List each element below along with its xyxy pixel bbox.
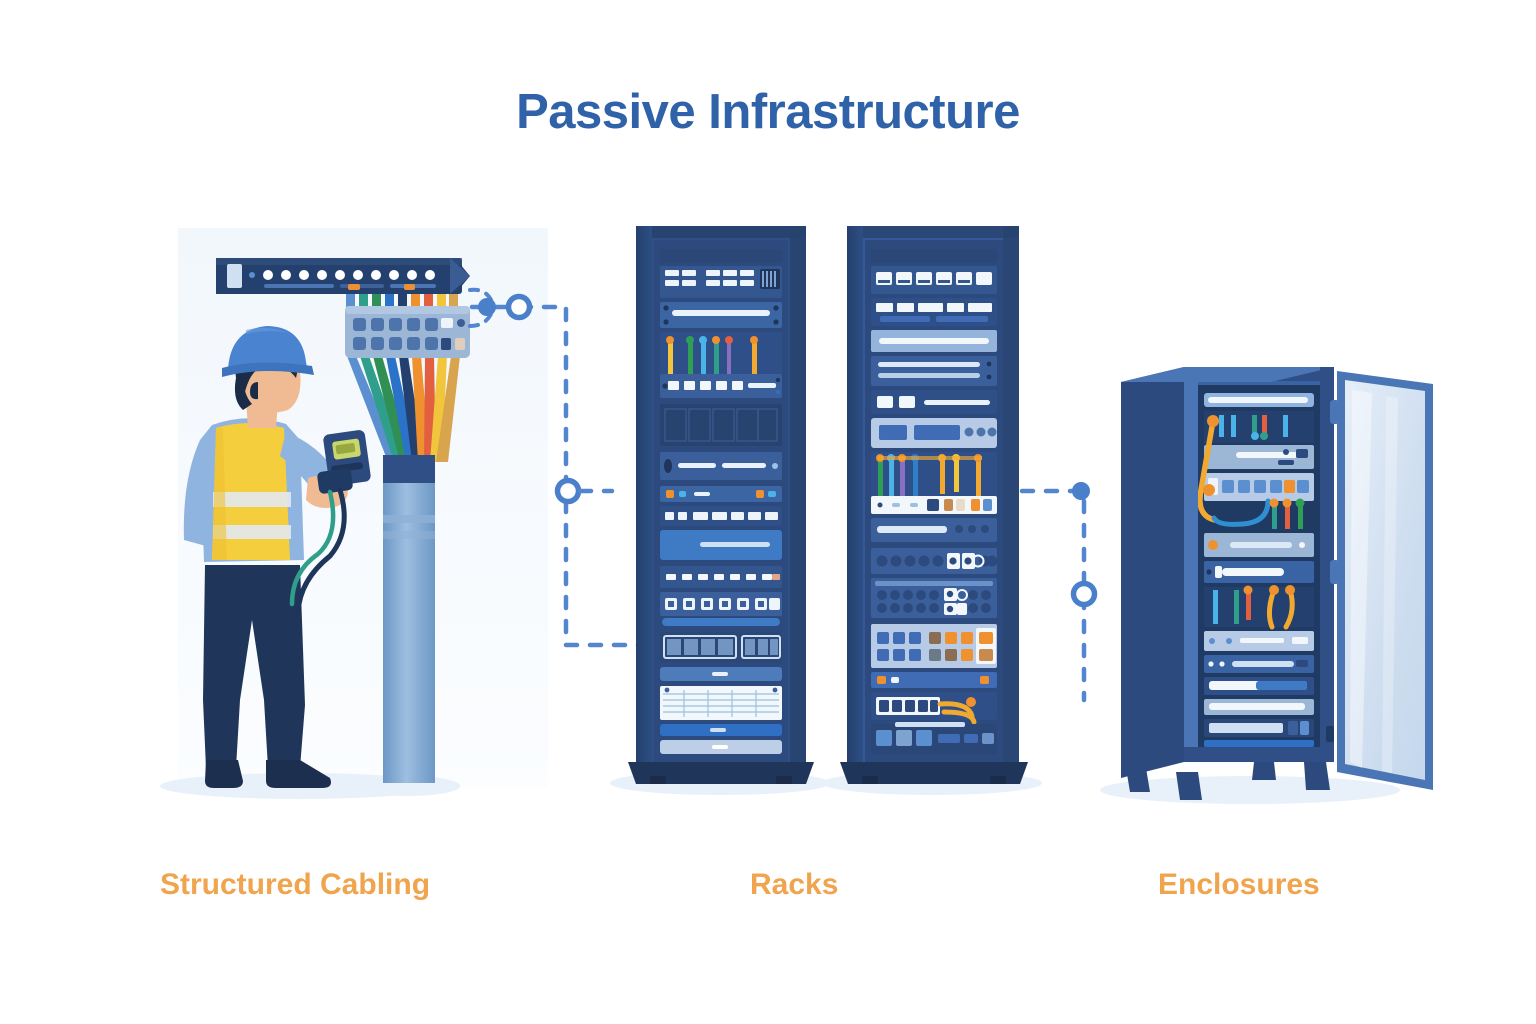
- rack-unit-2: [840, 226, 1028, 784]
- wall-patch-panel: [216, 258, 470, 294]
- door-latch: [1326, 726, 1334, 742]
- section-racks: [610, 226, 1042, 795]
- cable-conduit: [383, 455, 435, 783]
- conduit-collar: [383, 455, 435, 483]
- connector-node-2: [558, 481, 579, 502]
- connector-node-3: [1074, 584, 1095, 605]
- connector-path-2: [558, 481, 613, 502]
- caption-racks: Racks: [750, 868, 838, 902]
- enclosure-side-panel: [1121, 367, 1184, 778]
- enclosure-glass-door: [1326, 371, 1433, 790]
- caption-enclosures: Enclosures: [1158, 868, 1320, 902]
- enclosure-equipment: [1200, 393, 1314, 747]
- connector-node-1: [509, 297, 530, 318]
- junction-box: [345, 306, 470, 358]
- connector-dot-1: [478, 298, 496, 316]
- door-hinge-upper: [1330, 400, 1339, 424]
- page-title: Passive Infrastructure: [0, 84, 1536, 140]
- connector-dot-3: [1072, 482, 1090, 500]
- rack-unit-1: [628, 226, 814, 784]
- connector-path-3: [1022, 482, 1095, 700]
- section-enclosures: [1100, 367, 1433, 804]
- caption-structured-cabling: Structured Cabling: [160, 868, 430, 902]
- door-hinge-lower: [1330, 560, 1339, 584]
- shoe-left: [205, 760, 243, 788]
- illustration-canvas: Passive Infrastructure: [0, 0, 1536, 1024]
